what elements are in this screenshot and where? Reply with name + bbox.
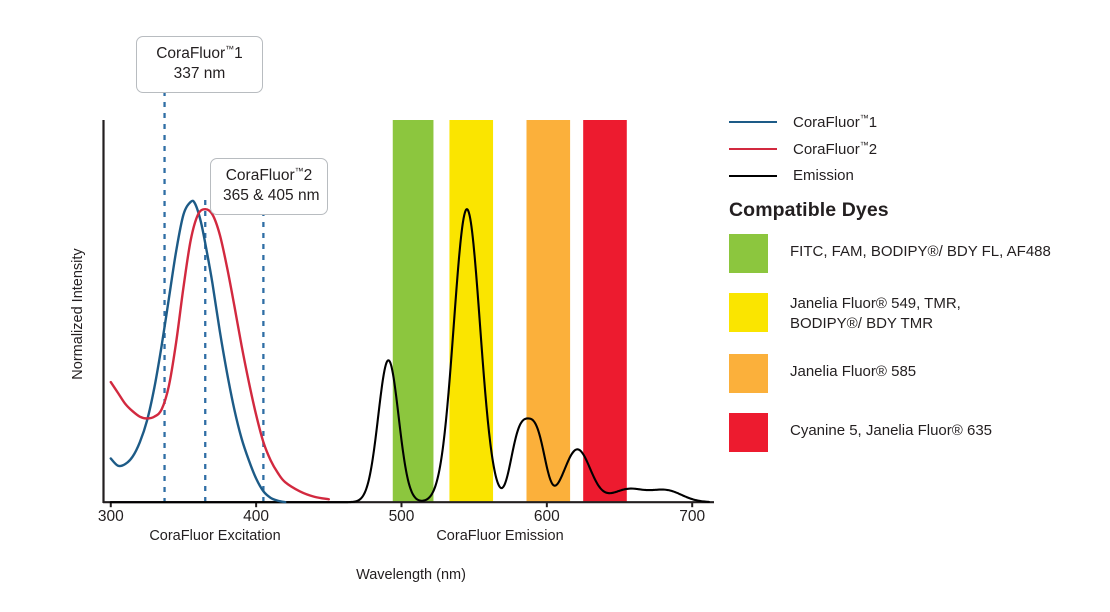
chart-figure: CoraFluor™1 337 nm CoraFluor™2 365 & 405…: [0, 0, 1110, 612]
callout-corafluor2: CoraFluor™2 365 & 405 nm: [210, 158, 328, 215]
trademark-symbol: ™: [860, 140, 869, 150]
legend-label-corafluor1: CoraFluor™1: [793, 113, 877, 131]
dye-item-yellow: Janelia Fluor® 549, TMR,BODIPY®/ BDY TMR: [729, 293, 1101, 334]
dye-label-yellow: Janelia Fluor® 549, TMR,BODIPY®/ BDY TMR: [790, 293, 961, 334]
dye-label-green: FITC, FAM, BODIPY®/ BDY FL, AF488: [790, 234, 1051, 262]
callout-corafluor1: CoraFluor™1 337 nm: [136, 36, 263, 93]
callout-corafluor2-line2: 365 & 405 nm: [223, 186, 315, 206]
legend-label-corafluor2: CoraFluor™2: [793, 140, 877, 158]
dye-band-1: [449, 120, 493, 502]
callout-corafluor1-line1: CoraFluor™1: [149, 44, 250, 64]
dye-swatch-orange: [729, 354, 768, 393]
legend-item-emission: Emission: [729, 162, 1089, 189]
trademark-symbol: ™: [295, 166, 304, 176]
series-legend: CoraFluor™1 CoraFluor™2 Emission: [729, 108, 1089, 189]
compatible-dyes-title: Compatible Dyes: [729, 199, 889, 222]
section-label-excitation: CoraFluor Excitation: [115, 528, 315, 544]
dye-band-group: [393, 120, 627, 502]
section-label-emission: CoraFluor Emission: [400, 528, 600, 544]
trademark-symbol: ™: [860, 113, 869, 123]
x-tick-label-300: 300: [81, 508, 141, 526]
corafluor1-excitation-curve: [111, 201, 285, 502]
dye-band-3: [583, 120, 627, 502]
x-tick-label-500: 500: [372, 508, 432, 526]
legend-swatch-line-emission: [729, 175, 777, 177]
dye-label-orange: Janelia Fluor® 585: [790, 354, 916, 382]
dye-label-red: Cyanine 5, Janelia Fluor® 635: [790, 413, 992, 441]
y-axis-title: Normalized Intensity: [70, 224, 86, 404]
dye-swatch-yellow: [729, 293, 768, 332]
legend-item-corafluor1: CoraFluor™1: [729, 108, 1089, 135]
dye-swatch-green: [729, 234, 768, 273]
legend-item-corafluor2: CoraFluor™2: [729, 135, 1089, 162]
dye-item-orange: Janelia Fluor® 585: [729, 354, 1101, 393]
dye-band-2: [526, 120, 570, 502]
dye-band-0: [393, 120, 434, 502]
x-axis-title: Wavelength (nm): [271, 567, 551, 583]
trademark-symbol: ™: [225, 44, 234, 54]
dye-item-green: FITC, FAM, BODIPY®/ BDY FL, AF488: [729, 234, 1101, 273]
legend-label-emission: Emission: [793, 167, 854, 184]
corafluor2-excitation-curve: [111, 209, 329, 499]
dye-item-red: Cyanine 5, Janelia Fluor® 635: [729, 413, 1101, 452]
callout-corafluor1-line2: 337 nm: [149, 64, 250, 84]
callout-corafluor2-line1: CoraFluor™2: [223, 166, 315, 186]
legend-swatch-line-corafluor2: [729, 148, 777, 150]
x-tick-label-400: 400: [226, 508, 286, 526]
legend-swatch-line-corafluor1: [729, 121, 777, 123]
x-tick-label-700: 700: [662, 508, 722, 526]
compatible-dyes-list: FITC, FAM, BODIPY®/ BDY FL, AF488 Janeli…: [729, 234, 1101, 472]
x-tick-label-600: 600: [517, 508, 577, 526]
dye-swatch-red: [729, 413, 768, 452]
